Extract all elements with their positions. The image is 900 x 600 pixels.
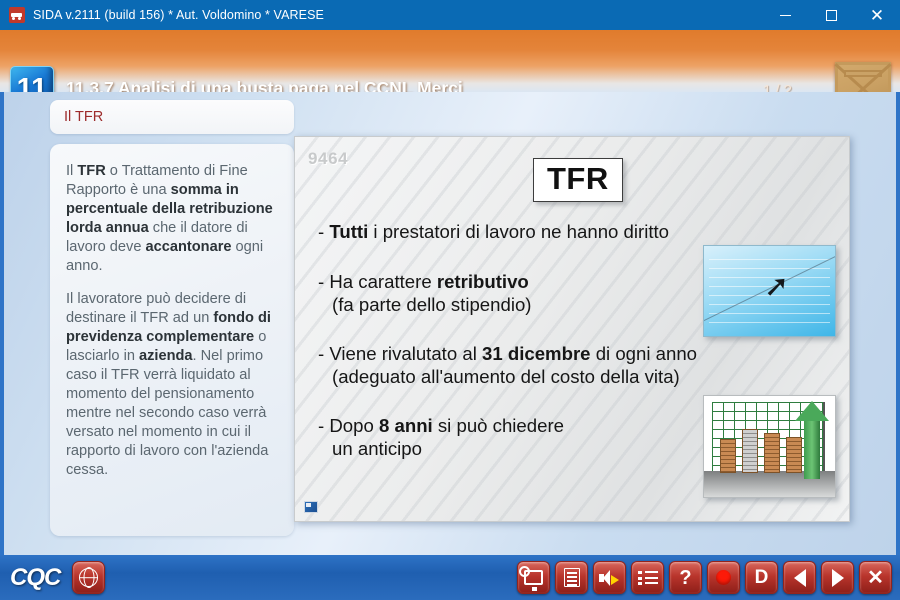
help-button[interactable]: ? <box>669 561 702 594</box>
toolbar-buttons: ? D ✕ <box>512 561 892 594</box>
page-counter: 1 / 2 <box>763 82 792 92</box>
chapter-badge: 11 <box>10 66 54 92</box>
application-window: SIDA v.2111 (build 156) * Aut. Voldomino… <box>0 0 900 600</box>
lesson-title: 11.3.7 Analisi di una busta paga nel CCN… <box>66 78 463 92</box>
picture-icon[interactable] <box>304 501 318 513</box>
content-area: Il TFR Il TFR o Trattamento di Fine Rapp… <box>0 92 900 555</box>
paragraph-1: Il TFR o Trattamento di Fine Rapporto è … <box>66 162 278 276</box>
dictionary-button[interactable]: D <box>745 561 778 594</box>
speaker-play-icon <box>599 569 621 587</box>
audio-play-button[interactable] <box>593 561 626 594</box>
paragraph-2: Il lavoratore può decidere di destinare … <box>66 290 278 480</box>
presentation-button[interactable] <box>517 561 550 594</box>
green-up-arrow-icon <box>804 417 820 479</box>
wooden-crate-icon <box>835 62 891 92</box>
coin-stack <box>720 439 736 473</box>
climbing-figure-image: ➚ <box>703 245 836 337</box>
left-column: Il TFR Il TFR o Trattamento di Fine Rapp… <box>50 100 294 536</box>
triangle-right-icon <box>832 569 844 587</box>
red-circle-icon <box>716 570 731 585</box>
document-button[interactable] <box>555 561 588 594</box>
question-mark-icon: ? <box>679 568 691 588</box>
coin-stacks-growth-image <box>703 395 836 498</box>
globe-icon[interactable] <box>72 561 105 594</box>
coin-stack <box>764 433 780 473</box>
slide-heading: TFR <box>533 158 623 202</box>
explanatory-text-panel: Il TFR o Trattamento di Fine Rapporto è … <box>50 144 294 536</box>
title-bar: SIDA v.2111 (build 156) * Aut. Voldomino… <box>0 0 900 30</box>
close-x-icon: ✕ <box>867 568 884 588</box>
minimize-button[interactable] <box>762 0 808 30</box>
slide-bullet: - Tutti i prestatori di lavoro ne hanno … <box>318 221 669 244</box>
slide-bullet: - Viene rivalutato al 31 dicembre di ogn… <box>318 343 697 388</box>
section-title: Il TFR <box>50 100 294 134</box>
bottom-toolbar: CQC ? <box>0 555 900 600</box>
window-controls: ✕ <box>762 0 900 30</box>
maximize-button[interactable] <box>808 0 854 30</box>
coin-stack <box>742 429 758 473</box>
cqc-logo: CQC <box>10 564 60 592</box>
window-title: SIDA v.2111 (build 156) * Aut. Voldomino… <box>33 8 324 22</box>
letter-d-icon: D <box>755 568 769 587</box>
document-icon <box>564 568 580 587</box>
person-silhouette-icon: ➚ <box>764 273 780 303</box>
truck-icon <box>9 7 25 23</box>
crate-band <box>844 70 882 77</box>
lesson-header: 11 11.3.7 Analisi di una busta paga nel … <box>0 30 900 92</box>
previous-button[interactable] <box>783 561 816 594</box>
monitor-icon <box>524 570 543 585</box>
list-icon <box>638 570 658 586</box>
slide-bullet: - Ha carattere retributivo(fa parte dell… <box>318 271 531 316</box>
triangle-left-icon <box>794 569 806 587</box>
close-window-button[interactable]: ✕ <box>854 0 900 30</box>
globe-glyph <box>79 568 98 587</box>
close-button[interactable]: ✕ <box>859 561 892 594</box>
index-button[interactable] <box>631 561 664 594</box>
next-button[interactable] <box>821 561 854 594</box>
coin-stack <box>786 437 802 473</box>
slide-watermark: 9464 <box>308 149 348 169</box>
slide-bullet: - Dopo 8 anni si può chiedereun anticipo <box>318 415 564 460</box>
slide-panel[interactable]: 9464 TFR - Tutti i prestatori di lavoro … <box>294 136 850 522</box>
record-button[interactable] <box>707 561 740 594</box>
close-icon: ✕ <box>870 7 884 24</box>
